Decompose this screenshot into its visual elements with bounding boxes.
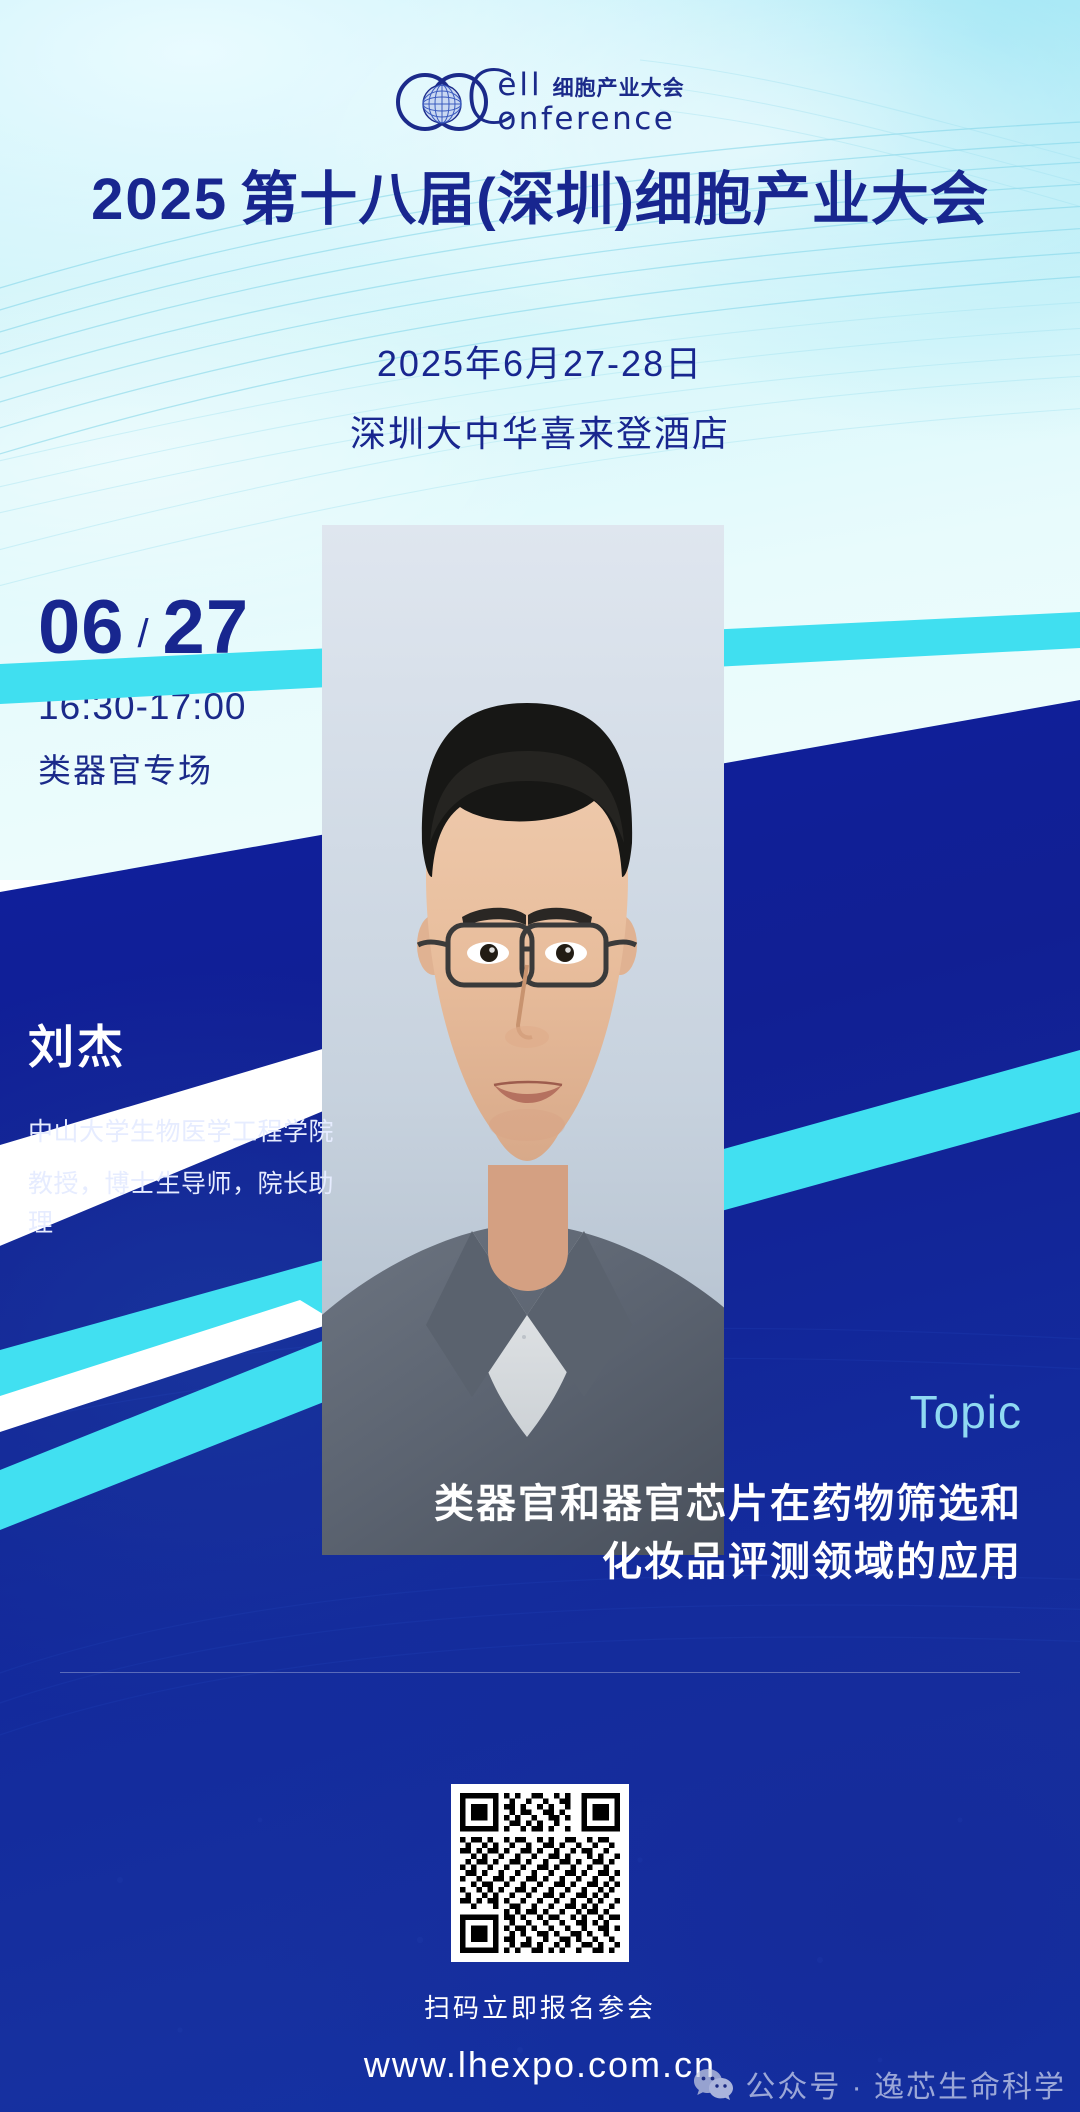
topic-line: 类器官和器官芯片在药物筛选和	[282, 1475, 1022, 1533]
logo-chinese-name: 细胞产业大会	[553, 78, 685, 101]
speaker-portrait	[322, 525, 724, 1555]
logo-letter-c: C	[463, 61, 515, 135]
speaker-title: 教授，博士生导师，院长助理	[28, 1165, 358, 1243]
qr-code-icon	[460, 1793, 620, 1953]
watermark-text: 公众号 · 逸芯生命科学	[745, 2062, 1066, 2106]
date-separator: /	[125, 614, 163, 654]
speaker-info: 刘杰 中山大学生物医学工程学院 教授，博士生导师，院长助理	[28, 1022, 358, 1243]
topic-line: 化妆品评测领域的应用	[282, 1533, 1022, 1591]
topic-label: Topic	[910, 1385, 1022, 1439]
speaker-name: 刘杰	[28, 1022, 358, 1073]
registration-qr-code[interactable]	[451, 1784, 629, 1962]
topic-title: 类器官和器官芯片在药物筛选和 化妆品评测领域的应用	[282, 1475, 1022, 1591]
conference-logo: C ell 细胞产业大会 onference	[0, 52, 1080, 152]
session-month: 06	[38, 590, 125, 666]
title-year: 2025	[91, 167, 228, 232]
speaker-organization: 中山大学生物医学工程学院	[28, 1113, 358, 1152]
section-divider	[60, 1672, 1020, 1673]
qr-caption: 扫码立即报名参会	[0, 1988, 1080, 2025]
event-date: 2025年6月27-28日	[0, 335, 1080, 387]
event-venue: 深圳大中华喜来登酒店	[0, 405, 1080, 457]
page-title: 2025第十八届(深圳)细胞产业大会	[0, 152, 1080, 236]
conference-poster: C ell 细胞产业大会 onference 2025第十八届(深圳)细胞产业大…	[0, 0, 1080, 2112]
logo-conference-text: onference	[497, 104, 684, 135]
wechat-icon	[693, 2067, 735, 2101]
session-track: 类器官专场	[38, 744, 249, 792]
wechat-watermark: 公众号 · 逸芯生命科学	[693, 2062, 1066, 2106]
title-main: 第十八届(深圳)细胞产业大会	[240, 167, 989, 232]
